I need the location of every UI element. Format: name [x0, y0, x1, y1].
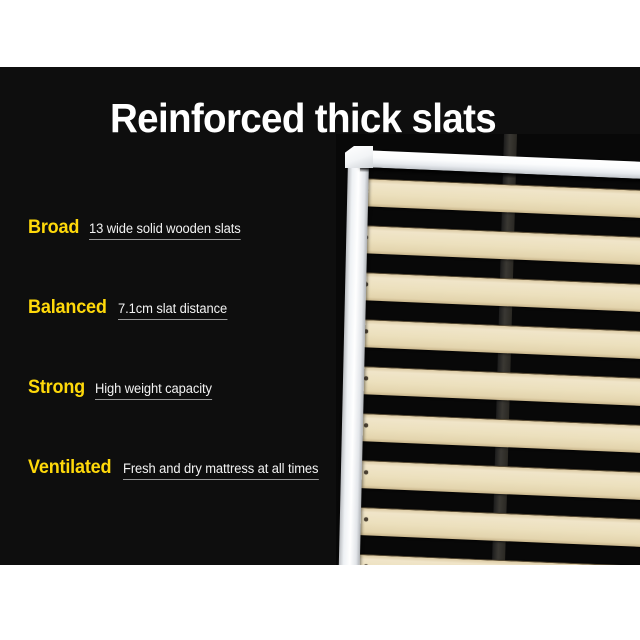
bottom-white-band — [0, 565, 640, 640]
frame-corner-cap — [345, 146, 373, 168]
feature-description: 7.1cm slat distance — [118, 301, 227, 320]
feature-description: High weight capacity — [95, 381, 212, 400]
feature-label: Broad — [28, 217, 79, 239]
frame-side-post — [337, 160, 369, 565]
feature-item-balanced: Balanced 7.1cm slat distance — [28, 297, 348, 377]
product-feature-image: Reinforced thick slats Broad 13 wide sol… — [0, 0, 640, 640]
feature-item-strong: Strong High weight capacity — [28, 377, 348, 457]
feature-label: Balanced — [28, 297, 107, 319]
marketing-panel: Reinforced thick slats Broad 13 wide sol… — [0, 67, 640, 565]
feature-description: 13 wide solid wooden slats — [89, 221, 241, 240]
top-white-band — [0, 0, 640, 67]
product-photo — [336, 134, 640, 565]
feature-description: Fresh and dry mattress at all times — [123, 461, 318, 480]
feature-item-broad: Broad 13 wide solid wooden slats — [28, 217, 348, 297]
wooden-slat — [357, 178, 640, 219]
wooden-slat — [357, 225, 640, 266]
feature-list: Broad 13 wide solid wooden slats Balance… — [28, 217, 348, 537]
feature-item-ventilated: Ventilated Fresh and dry mattress at all… — [28, 457, 348, 537]
feature-label: Strong — [28, 377, 85, 399]
feature-label: Ventilated — [28, 457, 111, 479]
